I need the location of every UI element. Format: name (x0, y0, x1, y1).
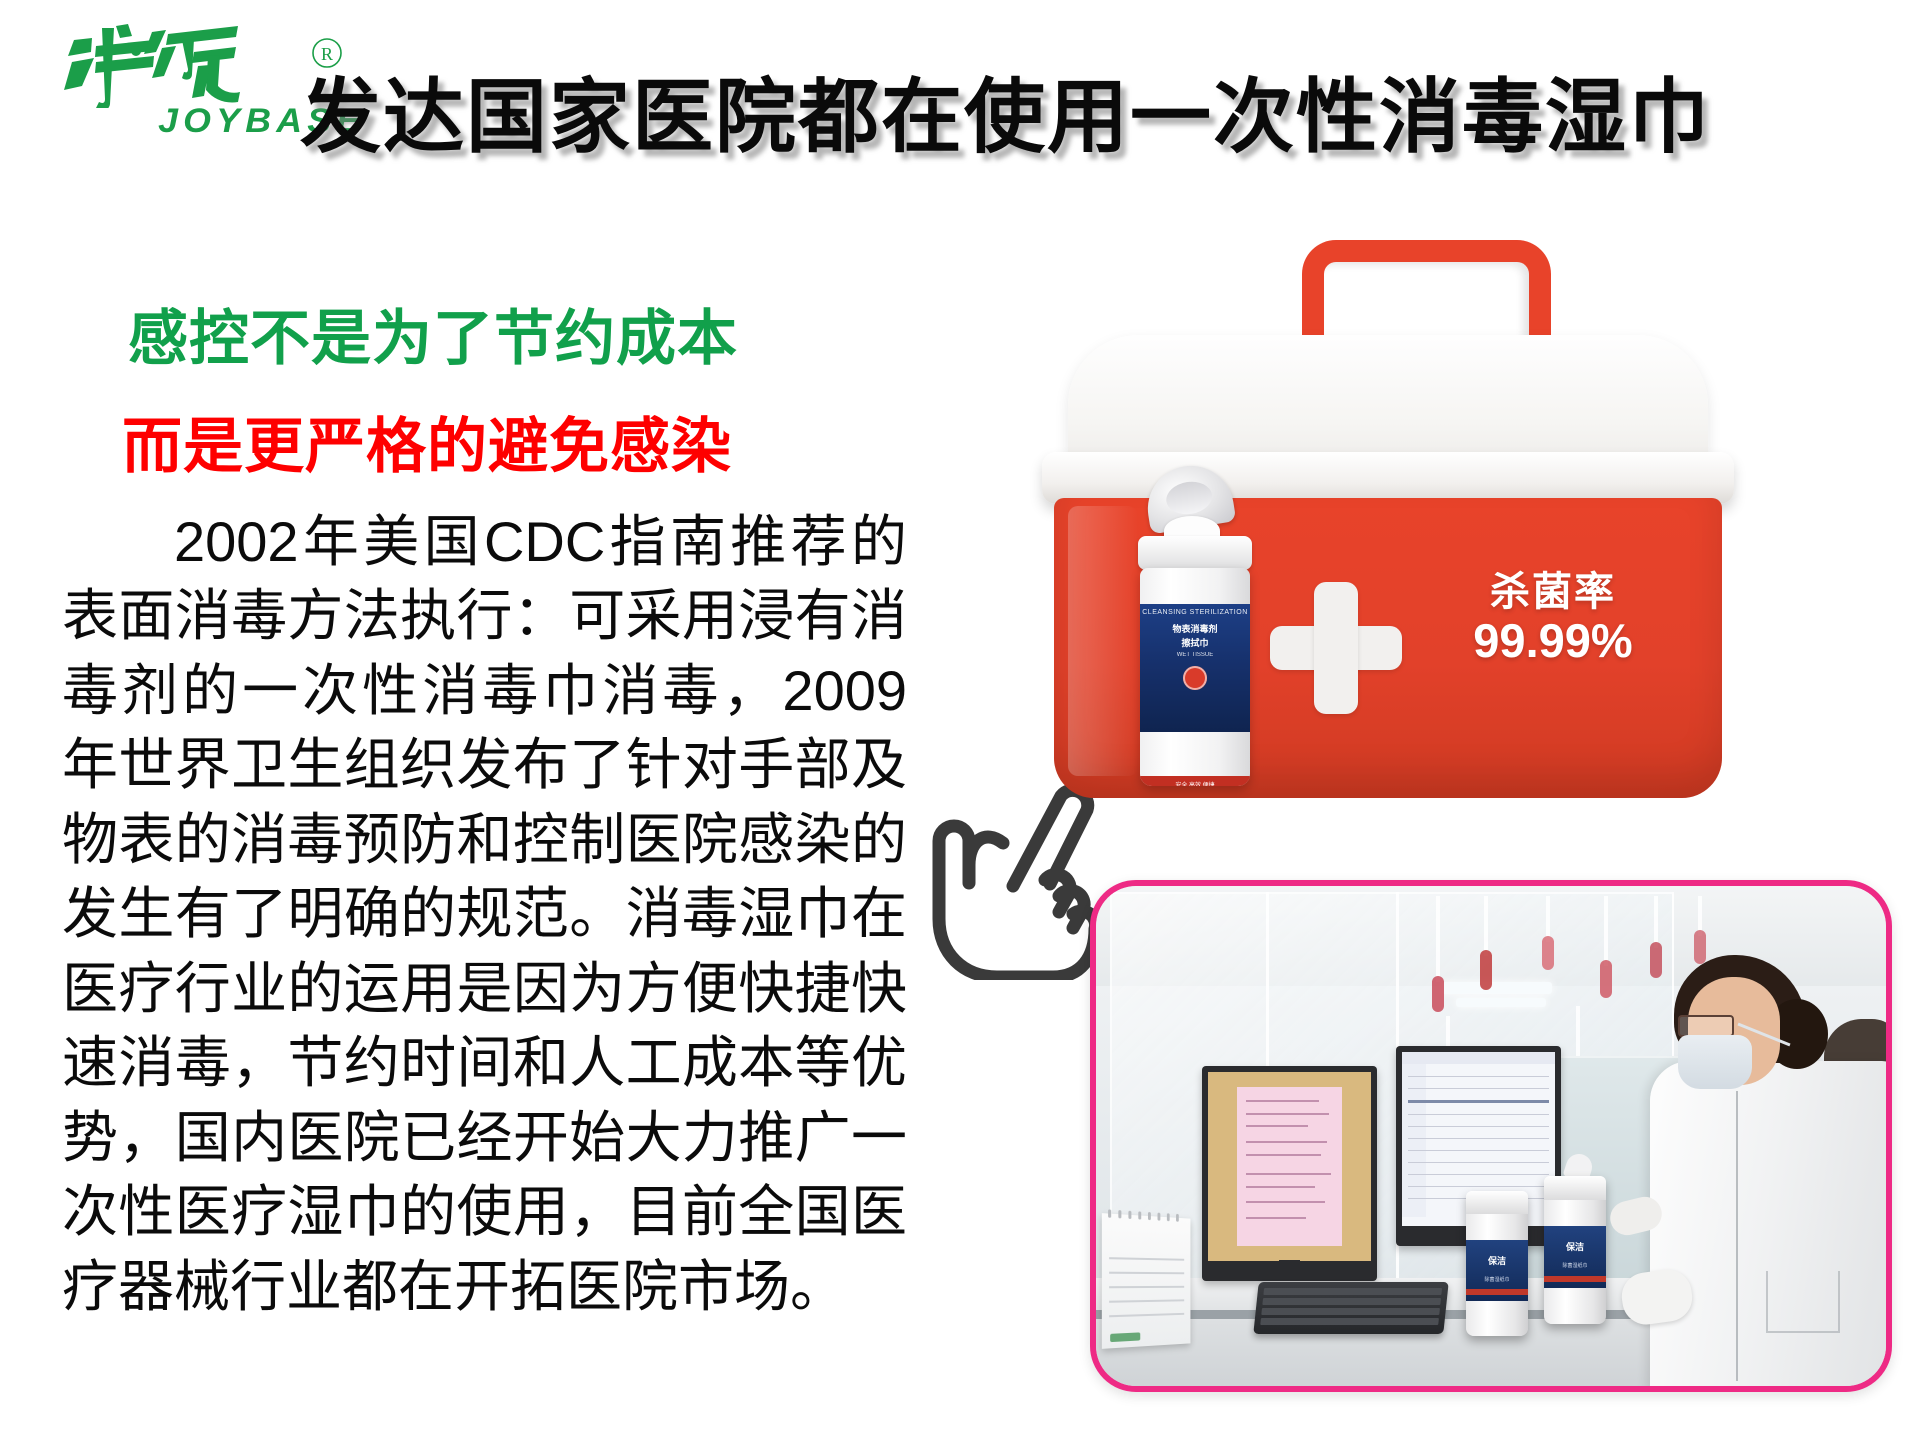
canister-line4: WET TISSUE (1140, 652, 1250, 658)
technician-face-mask (1678, 1035, 1752, 1089)
svg-text:R: R (321, 44, 333, 64)
registered-mark-icon: R (310, 36, 344, 78)
photo-keyboard (1253, 1282, 1448, 1334)
bottle2-sub: 除菌湿纸巾 (1544, 1262, 1606, 1269)
bottle1-label: 保洁 (1466, 1254, 1528, 1267)
monitor-left-document (1237, 1087, 1341, 1246)
canister-seal-icon (1183, 666, 1207, 690)
medical-cross-icon (1270, 582, 1402, 714)
slide-root: JOYBASE R 发达国家医院都在使用一次性消毒湿巾 感控不是为了节约成本 而… (0, 0, 1920, 1440)
brand-logo: JOYBASE R (58, 18, 318, 143)
canister-body: CLEANSING STERILIZATION 物表消毒剂 擦拭巾 WET TI… (1140, 568, 1250, 786)
bottle2-label: 保洁 (1544, 1240, 1606, 1253)
photo-monitor-left (1202, 1066, 1377, 1281)
kill-rate-label: 杀菌率 (1438, 570, 1668, 615)
heading-green: 感控不是为了节约成本 (128, 290, 738, 377)
calendar-logo (1110, 1332, 1140, 1342)
photo-desk-calendar (1102, 1213, 1191, 1349)
monitor-left-screen (1208, 1072, 1371, 1261)
wipes-canister: CLEANSING STERILIZATION 物表消毒剂 擦拭巾 WET TI… (1134, 528, 1256, 798)
canister-label: CLEANSING STERILIZATION 物表消毒剂 擦拭巾 WET TI… (1140, 604, 1250, 732)
canister-footer-text: 安全 高效 便捷 (1140, 780, 1250, 786)
bottle1-sub: 除菌湿纸巾 (1466, 1276, 1528, 1283)
photo-wipes-bottle-1: 保洁 除菌湿纸巾 (1466, 1191, 1528, 1336)
lab-photo-frame: 保洁 除菌湿纸巾 保洁 除菌湿纸巾 (1090, 880, 1892, 1392)
photo-lab-technician (1616, 941, 1886, 1386)
heading-red: 而是更严格的避免感染 (122, 398, 732, 485)
joybase-logo-icon (58, 18, 278, 108)
body-paragraph: 2002年美国CDC指南推荐的表面消毒方法执行：可采用浸有消毒剂的一次性消毒巾消… (62, 505, 907, 1324)
photo-wipes-bottle-2: 保洁 除菌湿纸巾 (1544, 1176, 1606, 1324)
lab-photo: 保洁 除菌湿纸巾 保洁 除菌湿纸巾 (1096, 886, 1886, 1386)
kill-rate-badge: 杀菌率 99.99% (1438, 570, 1668, 667)
technician-lab-coat (1650, 1061, 1886, 1386)
canister-line1: CLEANSING STERILIZATION (1140, 609, 1250, 616)
first-aid-box-product: 杀菌率 99.99% CLEANSING STERILIZATION 物表消毒剂… (1030, 230, 1750, 830)
canister-neck (1138, 536, 1252, 570)
technician-glasses-icon (1678, 1015, 1734, 1037)
canister-line3: 擦拭巾 (1140, 636, 1250, 649)
box-lid-lip (1042, 452, 1734, 504)
page-title: 发达国家医院都在使用一次性消毒湿巾 (300, 78, 1800, 159)
canister-line2: 物表消毒剂 (1140, 622, 1250, 635)
kill-rate-value: 99.99% (1438, 615, 1668, 668)
